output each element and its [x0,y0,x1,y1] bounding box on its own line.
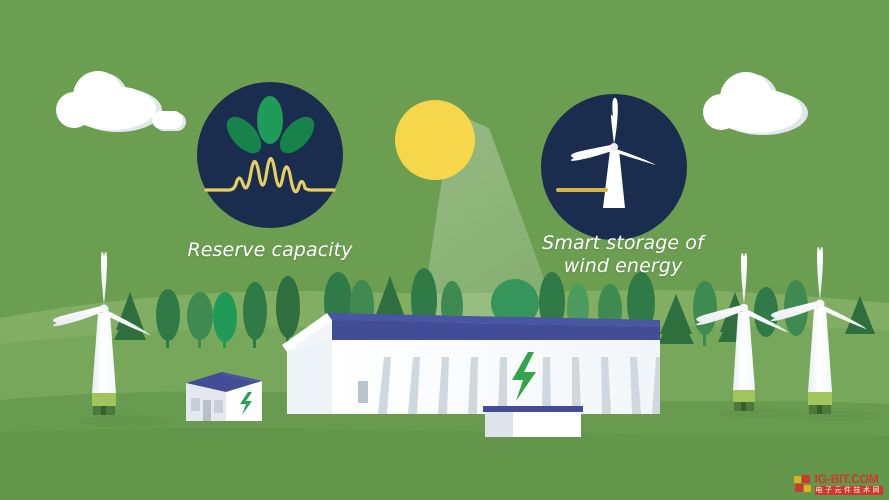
turbine-base [92,393,116,406]
sun-icon [395,100,475,180]
watermark-text: IG-BIT.COM 电子元件技术网 [815,473,884,495]
watermark-sub-text: 电子元件技术网 [815,486,884,495]
badge-reserve-capacity[interactable] [197,82,343,228]
house-window-left [191,398,200,411]
illustration-canvas: Reserve capacity Smart storage of wind e… [0,0,889,500]
turbine-hub [100,305,109,314]
turbine-hub [816,300,825,309]
turbine-base [808,392,832,405]
cloud-small-left [152,111,186,131]
ground-shadow-strip [0,428,889,500]
watermark-logo-icon [794,475,812,493]
watermark-main-text: IG-BIT.COM [815,473,884,485]
scene-svg [0,0,889,500]
front-platform [483,406,583,437]
house-door [203,400,211,421]
turbine-base [733,390,755,402]
house-window-right [214,400,223,413]
turbine-hub [740,304,748,312]
storage-bar [556,188,608,192]
warehouse-side-door [358,381,368,403]
leaf-center [257,96,283,144]
site-watermark: IG-BIT.COM 电子元件技术网 [794,472,884,496]
battery-storage-warehouse [282,313,660,414]
badge-smart-storage[interactable] [541,94,687,240]
